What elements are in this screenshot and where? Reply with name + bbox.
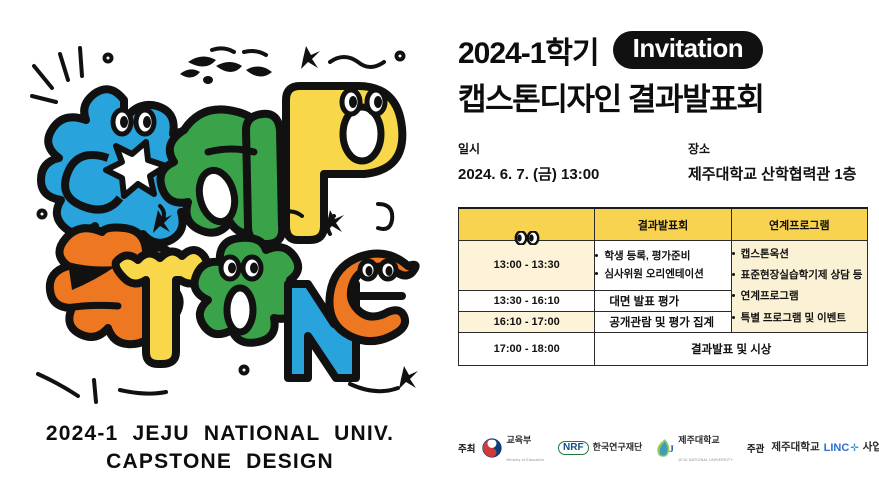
where-label: 장소 (688, 140, 856, 157)
jnu-flame-icon: J (656, 438, 674, 458)
schedule-table-wrap: 결과발표회 연계프로그램 13:00 - 13:30 학생 등록, 평가준비 심… (458, 207, 868, 402)
caption-line-2: CAPSTONE DESIGN (0, 448, 440, 476)
logo-ministry-of-education: 교육부 Ministry of Education (482, 430, 544, 466)
list-item: 표준현장실습학기제 상담 등 (732, 268, 867, 283)
caption-line-1: 2024-1 JEJU NATIONAL UNIV. (0, 420, 440, 448)
illustration-caption: 2024-1 JEJU NATIONAL UNIV. CAPSTONE DESI… (0, 420, 440, 476)
list-item: 캡스톤옥션 (732, 247, 867, 262)
row-final-text: 결과발표 및 시상 (595, 332, 868, 365)
logo-name: 제주대학교 (678, 435, 719, 445)
logo-jeju-national-university: J 제주대학교 JEJU NATIONAL UNIVERSITY (656, 430, 733, 466)
list-item: 연계프로그램 (732, 289, 867, 304)
when-label: 일시 (458, 140, 688, 157)
invitation-badge: Invitation (613, 31, 764, 68)
logo-text-block: 제주대학교 JEJU NATIONAL UNIVERSITY (678, 430, 733, 466)
table-row-final: 17:00 - 18:00 결과발표 및 시상 (459, 332, 868, 365)
table-row: 13:00 - 13:30 학생 등록, 평가준비 심사위원 오리엔테이션 캡스… (459, 241, 868, 291)
host-label: 주최 (458, 441, 475, 455)
row-time: 16:10 - 17:00 (459, 311, 595, 332)
peeking-eyes-icon (514, 231, 540, 245)
linked-program-list: 캡스톤옥션 표준현장실습학기제 상담 등 연계프로그램 특별 프로그램 및 이벤… (732, 247, 867, 326)
event-meta: 일시 2024. 6. 7. (금) 13:00 장소 제주대학교 산학협력관 … (458, 140, 868, 184)
organizer-suffix: 사업단 (863, 442, 879, 453)
logo-name: 교육부 (506, 435, 531, 445)
doodle-dashes (180, 48, 272, 84)
organizer-prefix: 제주대학교 (771, 442, 819, 453)
where-value: 제주대학교 산학협력관 1층 (688, 163, 856, 184)
row-time: 17:00 - 18:00 (459, 332, 595, 365)
row-time: 13:30 - 16:10 (459, 290, 595, 311)
linc-brand: LINC (824, 442, 850, 454)
logo-nrf: NRF 한국연구재단 (558, 441, 642, 455)
row-presentation: 공개관람 및 평가 집계 (595, 311, 731, 332)
footer-logos: 주최 교육부 Ministry of Education NRF 한국연구재단 (458, 432, 873, 464)
linked-program-cell: 캡스톤옥션 표준현장실습학기제 상담 등 연계프로그램 특별 프로그램 및 이벤… (731, 241, 867, 333)
meta-where: 장소 제주대학교 산학협력관 1층 (688, 140, 856, 184)
bullet-list: 학생 등록, 평가준비 심사위원 오리엔테이션 (595, 249, 730, 282)
col-header-linked: 연계프로그램 (731, 208, 867, 241)
capstone-doodle-lettering (12, 18, 432, 418)
logo-subtitle: Ministry of Education (506, 458, 544, 462)
poster-root: 2024-1 JEJU NATIONAL UNIV. CAPSTONE DESI… (0, 0, 879, 494)
col-header-presentation: 결과발표회 (595, 208, 731, 241)
list-item: 학생 등록, 평가준비 (595, 249, 730, 264)
list-item: 심사위원 오리엔테이션 (595, 267, 730, 282)
plus-icon: ✛ (850, 443, 858, 454)
row-time: 13:00 - 13:30 (459, 241, 595, 291)
capstone-illustration-panel: 2024-1 JEJU NATIONAL UNIV. CAPSTONE DESI… (0, 0, 440, 494)
linc-wordmark: LINC ✛ (824, 442, 859, 454)
logo-linc-project-group: 제주대학교 LINC ✛ 사업단 (771, 442, 879, 454)
row-presentation: 대면 발표 평가 (595, 290, 731, 311)
header-row: 2024-1학기 Invitation (458, 28, 866, 72)
event-title: 캡스톤디자인 결과발표회 (458, 74, 878, 119)
info-panel: 2024-1학기 Invitation 캡스톤디자인 결과발표회 일시 2024… (440, 0, 879, 494)
logo-text-block: 교육부 Ministry of Education (506, 430, 544, 466)
list-item: 특별 프로그램 및 이벤트 (732, 311, 867, 326)
logo-name: 한국연구재단 (593, 443, 643, 452)
svg-text:J: J (669, 445, 674, 455)
meta-when: 일시 2024. 6. 7. (금) 13:00 (458, 140, 688, 184)
letter-E (329, 254, 415, 342)
nrf-mark: NRF (558, 441, 589, 455)
semester-label: 2024-1학기 (458, 28, 599, 72)
logo-subtitle: JEJU NATIONAL UNIVERSITY (678, 458, 733, 462)
organizer-label: 주관 (747, 441, 764, 455)
row-presentation: 학생 등록, 평가준비 심사위원 오리엔테이션 (595, 241, 731, 291)
taegeuk-icon (482, 438, 502, 458)
when-value: 2024. 6. 7. (금) 13:00 (458, 163, 688, 184)
